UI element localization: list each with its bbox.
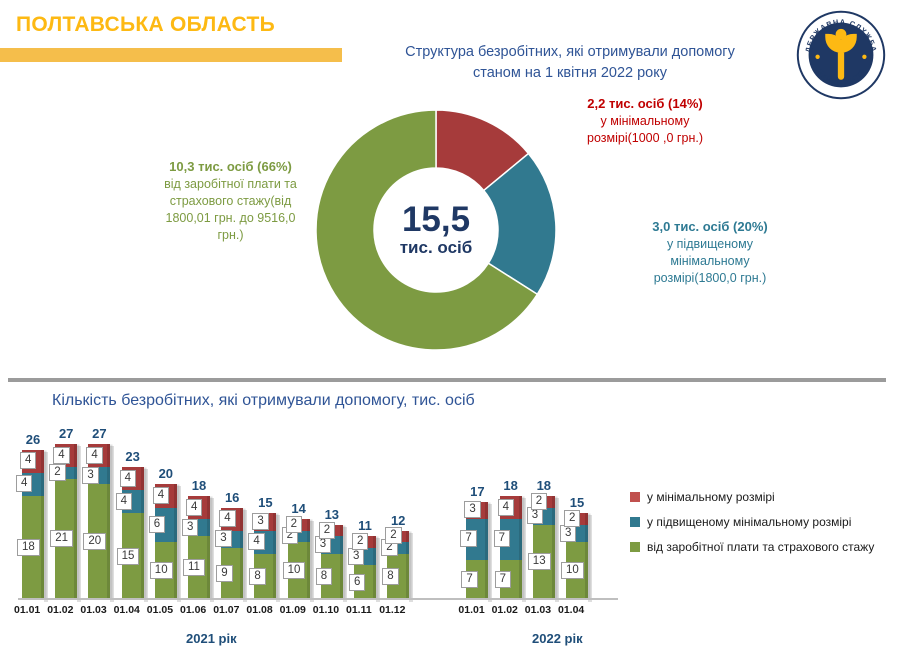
callout-blue-line3: мінімальному bbox=[670, 254, 749, 268]
bar-shadow bbox=[243, 510, 247, 602]
x-axis-label: 01.06 bbox=[180, 604, 206, 616]
bar-group: 12822 bbox=[385, 531, 411, 600]
bar-group: 201064 bbox=[153, 484, 179, 600]
bar-value-label: 20 bbox=[83, 533, 106, 550]
bar-value-label: 2 bbox=[286, 516, 302, 533]
bar-value-label: 8 bbox=[249, 568, 265, 585]
bar-total-label: 23 bbox=[125, 449, 139, 464]
section-divider bbox=[8, 378, 886, 382]
bar-value-label: 15 bbox=[117, 548, 140, 565]
bar-group: 11632 bbox=[352, 536, 378, 600]
bar-value-label: 7 bbox=[460, 530, 476, 547]
callout-minimum-size: 2,2 тис. осіб (14%) у мінімальному розмі… bbox=[520, 95, 770, 147]
bar-group: 18774 bbox=[498, 496, 524, 600]
bar-value-label: 3 bbox=[527, 507, 543, 524]
bar-chart-legend: у мінімальному розміріу підвищеному міні… bbox=[630, 490, 888, 565]
bar-shadow bbox=[409, 533, 413, 602]
bar-value-label: 4 bbox=[53, 447, 69, 464]
bar-shadow bbox=[310, 521, 314, 602]
bar-shadow bbox=[276, 515, 280, 602]
bar-group: 16934 bbox=[219, 508, 245, 600]
bar-group: 272124 bbox=[53, 444, 79, 600]
x-axis-label: 01.10 bbox=[313, 604, 339, 616]
bar-value-label: 4 bbox=[16, 475, 32, 492]
x-axis-label: 01.02 bbox=[492, 604, 518, 616]
bar-value-label: 10 bbox=[561, 562, 584, 579]
bar-total-label: 14 bbox=[291, 501, 305, 516]
x-axis-label: 01.04 bbox=[114, 604, 140, 616]
bar-group: 17773 bbox=[464, 502, 490, 600]
bar-total-label: 27 bbox=[92, 426, 106, 441]
bar-value-label: 13 bbox=[528, 553, 551, 570]
bar-total-label: 11 bbox=[358, 518, 372, 533]
bar-group: 141022 bbox=[286, 519, 312, 600]
bar-shadow bbox=[522, 498, 526, 602]
bar-group: 15843 bbox=[252, 513, 278, 600]
bar-shadow bbox=[555, 498, 559, 602]
callout-red-line3: розмірі(1000 ,0 грн.) bbox=[587, 131, 703, 145]
bar-value-label: 3 bbox=[464, 501, 480, 518]
bar-chart-title: Кількість безробітних, які отримували до… bbox=[52, 392, 475, 410]
bar-value-label: 8 bbox=[316, 568, 332, 585]
bar-shadow bbox=[488, 504, 492, 602]
bar-total-label: 18 bbox=[537, 478, 551, 493]
bar-value-label: 4 bbox=[120, 470, 136, 487]
bar-total-label: 26 bbox=[26, 432, 40, 447]
bar-value-label: 6 bbox=[149, 516, 165, 533]
bar-value-label: 7 bbox=[495, 571, 511, 588]
bar-value-label: 10 bbox=[283, 562, 306, 579]
bar-chart-axis bbox=[18, 598, 618, 600]
bar-total-label: 18 bbox=[192, 478, 206, 493]
legend-swatch-red bbox=[630, 492, 640, 502]
bar-value-label: 3 bbox=[82, 467, 98, 484]
bar-value-label: 2 bbox=[564, 510, 580, 527]
x-axis-label: 01.07 bbox=[213, 604, 239, 616]
legend-label: у підвищеному мінімальному розмірі bbox=[647, 515, 851, 529]
bar-total-label: 15 bbox=[258, 495, 272, 510]
bar-value-label: 7 bbox=[494, 530, 510, 547]
bar-shadow bbox=[210, 498, 214, 602]
bar-total-label: 15 bbox=[570, 495, 584, 510]
bar-value-label: 10 bbox=[150, 562, 173, 579]
bar-group: 181134 bbox=[186, 496, 212, 600]
bar-value-label: 2 bbox=[352, 533, 368, 550]
bar-chart-plot: 2618442721242720342315442010641811341693… bbox=[0, 420, 640, 600]
bar-value-label: 8 bbox=[382, 568, 398, 585]
bar-value-label: 4 bbox=[153, 487, 169, 504]
bar-value-label: 4 bbox=[219, 510, 235, 527]
callout-red-line2: у мінімальному bbox=[601, 114, 690, 128]
callout-blue-headline: 3,0 тис. осіб (20%) bbox=[652, 219, 767, 234]
callout-increased-minimum-size: 3,0 тис. осіб (20%) у підвищеному мініма… bbox=[580, 218, 840, 287]
x-axis-label: 01.03 bbox=[80, 604, 106, 616]
state-employment-service-logo: ДЕРЖАВНА СЛУЖБА ЗАЙНЯТОСТІ bbox=[796, 10, 886, 100]
bar-shadow bbox=[144, 469, 148, 602]
bar-value-label: 11 bbox=[183, 559, 205, 576]
legend-swatch-green bbox=[630, 542, 640, 552]
bar-total-label: 27 bbox=[59, 426, 73, 441]
callout-red-headline: 2,2 тис. осіб (14%) bbox=[587, 96, 702, 111]
callout-green-line3: страхового стажу(від bbox=[170, 194, 292, 208]
bar-value-label: 4 bbox=[86, 447, 102, 464]
bar-total-label: 16 bbox=[225, 490, 239, 505]
callout-green-line4: 1800,01 грн. до 9516,0 bbox=[166, 211, 296, 225]
legend-item: у мінімальному розмірі bbox=[630, 490, 888, 504]
bar-value-label: 2 bbox=[49, 464, 65, 481]
bar-total-label: 20 bbox=[159, 466, 173, 481]
x-axis-label: 01.11 bbox=[346, 604, 372, 616]
bar-shadow bbox=[77, 446, 81, 602]
legend-label: у мінімальному розмірі bbox=[647, 490, 775, 504]
bar-shadow bbox=[44, 452, 48, 602]
stacked-bar bbox=[122, 467, 144, 600]
x-axis-label: 01.01 bbox=[458, 604, 484, 616]
stacked-bar bbox=[22, 450, 44, 600]
donut-chart-title: Структура безробітних, які отримували до… bbox=[360, 42, 780, 84]
x-axis-label: 01.04 bbox=[558, 604, 584, 616]
x-axis-label: 01.02 bbox=[47, 604, 73, 616]
callout-green-headline: 10,3 тис. осіб (66%) bbox=[169, 159, 292, 174]
bar-value-label: 6 bbox=[349, 574, 365, 591]
bar-value-label: 7 bbox=[461, 571, 477, 588]
bar-total-label: 18 bbox=[503, 478, 517, 493]
bar-group: 151032 bbox=[564, 513, 590, 600]
page-title: ПОЛТАВСЬКА ОБЛАСТЬ bbox=[16, 13, 275, 37]
legend-label: від заробітної плати та страхового стажу bbox=[647, 540, 874, 554]
callout-salary-based: 10,3 тис. осіб (66%) від заробітної плат… bbox=[118, 158, 343, 244]
bar-value-label: 4 bbox=[20, 452, 36, 469]
bar-value-label: 18 bbox=[17, 539, 40, 556]
title-underbar bbox=[0, 48, 342, 62]
x-axis-label: 01.01 bbox=[14, 604, 40, 616]
legend-item: від заробітної плати та страхового стажу bbox=[630, 540, 888, 554]
donut-title-line2: станом на 1 квітня 2022 року bbox=[360, 63, 780, 84]
infographic-root: ПОЛТАВСЬКА ОБЛАСТЬ ДЕРЖАВНА СЛУЖБА ЗАЙНЯ… bbox=[0, 0, 897, 663]
bar-shadow bbox=[376, 538, 380, 602]
x-axis-label: 01.08 bbox=[246, 604, 272, 616]
bar-value-label: 4 bbox=[186, 499, 202, 516]
donut-title-line1: Структура безробітних, які отримували до… bbox=[360, 42, 780, 63]
bar-group: 13832 bbox=[319, 525, 345, 600]
bar-value-label: 2 bbox=[385, 527, 401, 544]
bar-shadow bbox=[343, 527, 347, 602]
x-axis-label: 01.09 bbox=[280, 604, 306, 616]
legend-swatch-blue bbox=[630, 517, 640, 527]
bar-group: 261844 bbox=[20, 450, 46, 600]
callout-green-line5: грн.) bbox=[217, 228, 243, 242]
bar-group: 181332 bbox=[531, 496, 557, 600]
bar-value-label: 2 bbox=[531, 493, 547, 510]
bar-value-label: 3 bbox=[182, 519, 198, 536]
bar-shadow bbox=[588, 515, 592, 602]
year-label-2022: 2022 рік bbox=[532, 631, 583, 646]
bar-total-label: 13 bbox=[325, 507, 339, 522]
bar-value-label: 4 bbox=[498, 499, 514, 516]
x-axis-label: 01.12 bbox=[379, 604, 405, 616]
year-label-2021: 2021 рік bbox=[186, 631, 237, 646]
bar-value-label: 9 bbox=[216, 565, 232, 582]
bar-value-label: 3 bbox=[215, 530, 231, 547]
bar-shadow bbox=[177, 486, 181, 602]
bar-group: 272034 bbox=[86, 444, 112, 600]
bar-group: 231544 bbox=[120, 467, 146, 600]
bar-value-label: 21 bbox=[50, 530, 73, 547]
bar-value-label: 2 bbox=[319, 522, 335, 539]
callout-blue-line2: у підвищеному bbox=[667, 237, 753, 251]
bar-shadow bbox=[110, 446, 114, 602]
x-axis-label: 01.03 bbox=[525, 604, 551, 616]
callout-green-line2: від заробітної плати та bbox=[164, 177, 297, 191]
bar-total-label: 12 bbox=[391, 513, 405, 528]
bar-value-label: 4 bbox=[248, 533, 264, 550]
bar-value-label: 3 bbox=[315, 536, 331, 553]
bar-total-label: 17 bbox=[470, 484, 484, 499]
callout-blue-line4: розмірі(1800,0 грн.) bbox=[654, 271, 767, 285]
bar-value-label: 4 bbox=[116, 493, 132, 510]
legend-item: у підвищеному мінімальному розмірі bbox=[630, 515, 888, 529]
bar-value-label: 3 bbox=[252, 513, 268, 530]
x-axis-label: 01.05 bbox=[147, 604, 173, 616]
